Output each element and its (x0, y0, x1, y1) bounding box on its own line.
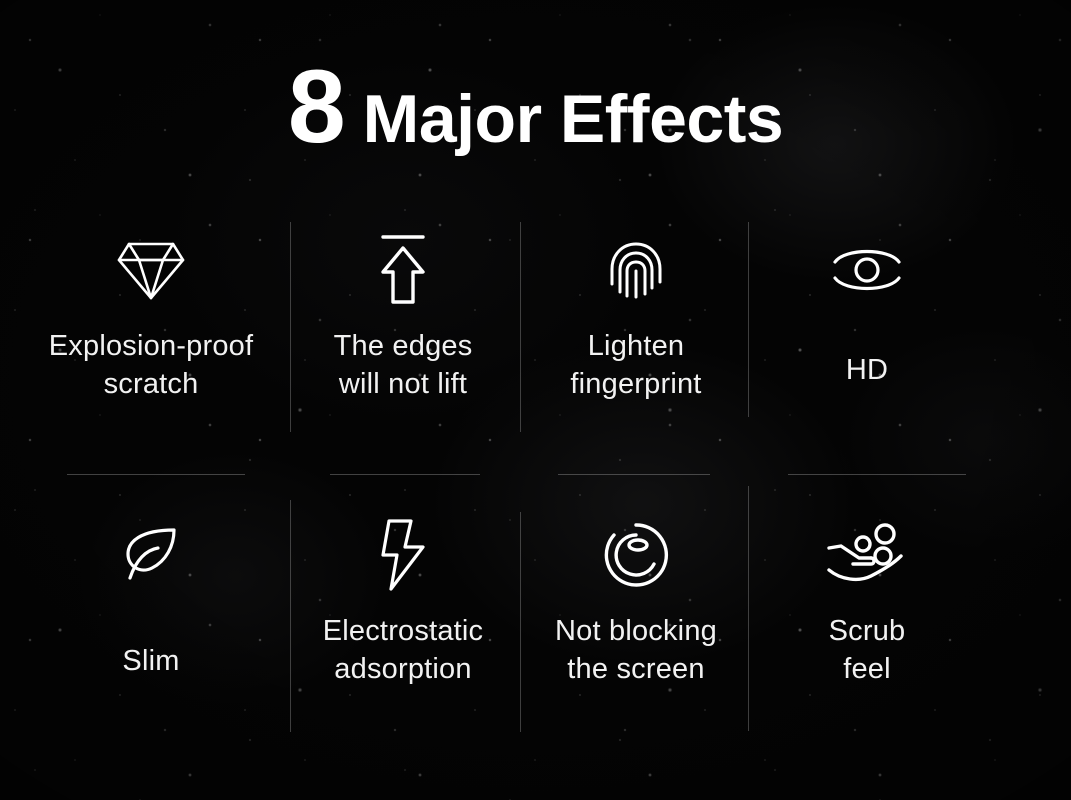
arrow-up-bar-icon (288, 225, 518, 315)
feature-item-edges-will-not-lift: The edges will not lift (288, 225, 518, 404)
feature-label: Scrub feel (752, 612, 982, 689)
feature-label-line2: adsorption (288, 650, 518, 688)
feature-label-line2: the screen (521, 650, 751, 688)
feature-label-line2: feel (752, 650, 982, 688)
feature-label: The edges will not lift (288, 327, 518, 404)
feature-label-line2: will not lift (288, 365, 518, 403)
title-number: 8 (288, 55, 345, 159)
feature-label-line1: Electrostatic (323, 615, 484, 647)
feature-grid: Explosion-proof scratch The edges will n… (0, 205, 1071, 765)
feature-item-not-blocking-screen: Not blocking the screen (521, 510, 751, 689)
page-title: 8Major Effects (0, 55, 1071, 159)
feature-label: Slim (36, 642, 266, 680)
feature-label: Lighten fingerprint (521, 327, 751, 404)
leaf-icon (36, 510, 266, 600)
feature-item-electrostatic-adsorption: Electrostatic adsorption (288, 510, 518, 689)
feature-label: Not blocking the screen (521, 612, 751, 689)
promo-banner: 8Major Effects Explosion-proof (0, 0, 1071, 800)
feature-label-line1: HD (846, 354, 888, 386)
feature-label: Electrostatic adsorption (288, 612, 518, 689)
feature-label: HD (752, 351, 982, 389)
feature-label-line1: Scrub (829, 615, 906, 647)
feature-label-line1: Explosion-proof (49, 330, 254, 362)
feature-label-line2: fingerprint (521, 365, 751, 403)
title-text: Major Effects (363, 85, 784, 153)
feature-item-hd: HD (752, 225, 982, 389)
fingerprint-icon (521, 225, 751, 315)
feature-item-explosion-proof-scratch: Explosion-proof scratch (36, 225, 266, 404)
feature-item-lighten-fingerprint: Lighten fingerprint (521, 225, 751, 404)
feature-label-line2: scratch (36, 365, 266, 403)
feature-label-line1: Slim (122, 645, 179, 677)
feature-item-scrub-feel: Scrub feel (752, 510, 982, 689)
eye-icon (752, 225, 982, 315)
hand-bubbles-icon (752, 510, 982, 600)
feature-label-line1: The edges (334, 330, 473, 362)
feature-label-line1: Lighten (588, 330, 685, 362)
feature-item-slim: Slim (36, 510, 266, 680)
feature-label: Explosion-proof scratch (36, 327, 266, 404)
lens-circles-icon (521, 510, 751, 600)
lightning-bolt-icon (288, 510, 518, 600)
diamond-icon (36, 225, 266, 315)
feature-label-line1: Not blocking (555, 615, 717, 647)
